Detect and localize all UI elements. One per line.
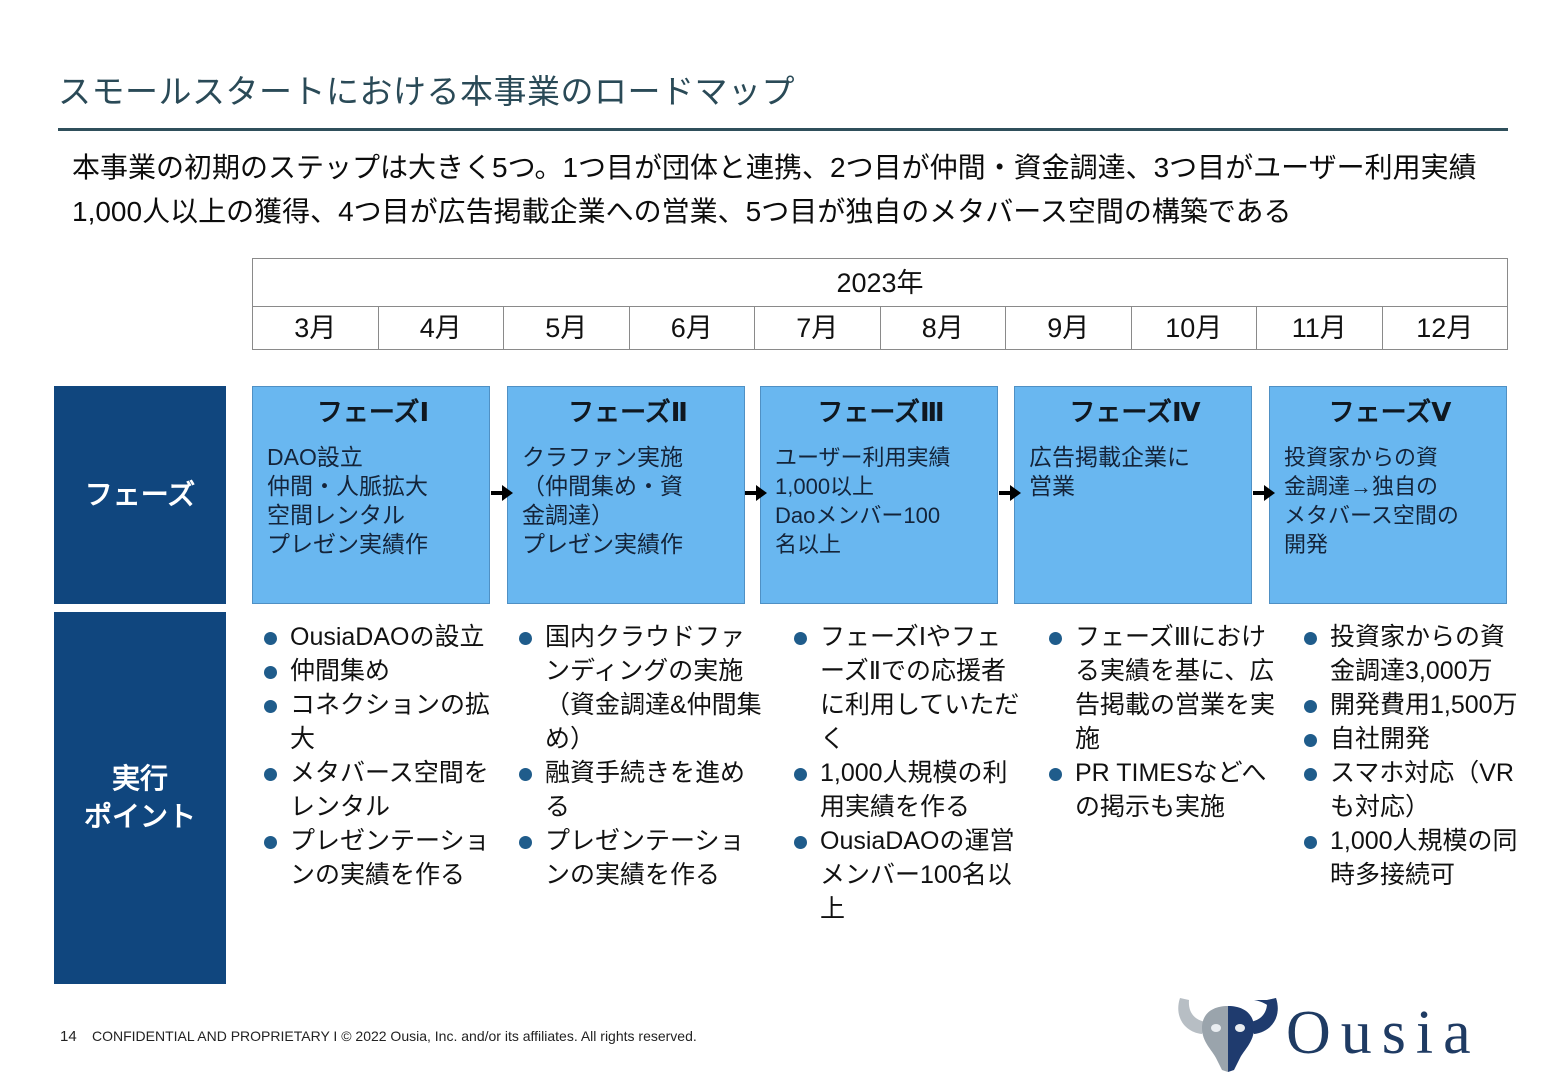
bullet-column-1: OusiaDAOの設立 仲間集め コネクションの拡大 メタバース空間をレンタル … bbox=[258, 620, 508, 892]
list-item: フェーズⅢにおける実績を基に、広告掲載の営業を実施 bbox=[1043, 620, 1275, 756]
phase-box-body: ユーザー利用実績 1,000以上 Daoメンバー100 名以上 bbox=[775, 443, 987, 559]
phase-box-body: 投資家からの資 金調達→独自の メタバース空間の 開発 bbox=[1284, 443, 1496, 559]
timeline-month-cell: 5月 bbox=[504, 307, 630, 349]
slide-root: スモールスタートにおける本事業のロードマップ 本事業の初期のステップは大きく5つ… bbox=[0, 0, 1559, 1078]
list-item: 自社開発 bbox=[1298, 722, 1526, 756]
phase-box-5: フェーズⅤ 投資家からの資 金調達→独自の メタバース空間の 開発 bbox=[1269, 386, 1507, 604]
phase-box-4: フェーズⅣ 広告掲載企業に 営業 bbox=[1014, 386, 1252, 604]
timeline-month-cell: 9月 bbox=[1006, 307, 1132, 349]
row-label-phase: フェーズ bbox=[54, 386, 226, 604]
list-item: メタバース空間をレンタル bbox=[258, 756, 508, 824]
timeline-month-cell: 4月 bbox=[379, 307, 505, 349]
list-item: OusiaDAOの運営メンバー100名以上 bbox=[788, 824, 1020, 926]
lead-paragraph: 本事業の初期のステップは大きく5つ。1つ目が団体と連携、2つ目が仲間・資金調達、… bbox=[72, 146, 1492, 234]
page-title: スモールスタートにおける本事業のロードマップ bbox=[58, 72, 795, 112]
list-item: プレゼンテーションの実績を作る bbox=[258, 824, 508, 892]
page-number: 14 bbox=[60, 1028, 77, 1045]
list-item: プレゼンテーションの実績を作る bbox=[513, 824, 763, 892]
phase-box-title: フェーズⅣ bbox=[1029, 395, 1241, 429]
list-item: フェーズⅠやフェーズⅡでの応援者に利用していただく bbox=[788, 620, 1020, 756]
bullet-column-5: 投資家からの資金調達3,000万 開発費用1,500万 自社開発 スマホ対応（V… bbox=[1298, 620, 1526, 892]
list-item: 1,000人規模の利用実績を作る bbox=[788, 756, 1020, 824]
timeline-month-cell: 10月 bbox=[1132, 307, 1258, 349]
footer-copyright: CONFIDENTIAL AND PROPRIETARY I © 2022 Ou… bbox=[92, 1028, 697, 1044]
timeline-month-cell: 12月 bbox=[1383, 307, 1508, 349]
bullet-column-3: フェーズⅠやフェーズⅡでの応援者に利用していただく 1,000人規模の利用実績を… bbox=[788, 620, 1020, 926]
bullet-column-2: 国内クラウドファンディングの実施（資金調達&仲間集め） 融資手続きを進める プレ… bbox=[513, 620, 763, 892]
timeline-year-header: 2023年 bbox=[253, 259, 1507, 307]
phase-box-body: 広告掲載企業に 営業 bbox=[1029, 443, 1241, 501]
phase-box-body: DAO設立 仲間・人脈拡大 空間レンタル プレゼン実績作 bbox=[267, 443, 479, 559]
ousia-logo: Ousia bbox=[1168, 988, 1498, 1074]
list-item: 開発費用1,500万 bbox=[1298, 688, 1526, 722]
timeline-month-cell: 3月 bbox=[253, 307, 379, 349]
list-item: 仲間集め bbox=[258, 654, 508, 688]
list-item: 国内クラウドファンディングの実施（資金調達&仲間集め） bbox=[513, 620, 763, 756]
arrow-icon-1-to-2 bbox=[491, 485, 513, 501]
timeline-month-cell: 6月 bbox=[630, 307, 756, 349]
phase-box-title: フェーズⅡ bbox=[522, 395, 734, 429]
list-item: スマホ対応（VRも対応） bbox=[1298, 756, 1526, 824]
phase-box-title: フェーズⅤ bbox=[1284, 395, 1496, 429]
timeline-month-cell: 11月 bbox=[1257, 307, 1383, 349]
phase-box-body: クラファン実施 （仲間集め・資 金調達） プレゼン実績作 bbox=[522, 443, 734, 559]
bullet-column-4: フェーズⅢにおける実績を基に、広告掲載の営業を実施 PR TIMESなどへの掲示… bbox=[1043, 620, 1275, 824]
row-label-execution-points: 実行 ポイント bbox=[54, 612, 226, 984]
list-item: コネクションの拡大 bbox=[258, 688, 508, 756]
timeline-month-row: 3月 4月 5月 6月 7月 8月 9月 10月 11月 12月 bbox=[253, 307, 1507, 349]
list-item: PR TIMESなどへの掲示も実施 bbox=[1043, 756, 1275, 824]
phase-box-2: フェーズⅡ クラファン実施 （仲間集め・資 金調達） プレゼン実績作 bbox=[507, 386, 745, 604]
phase-box-title: フェーズⅠ bbox=[267, 395, 479, 429]
logo-wordmark: Ousia bbox=[1286, 998, 1481, 1069]
list-item: 投資家からの資金調達3,000万 bbox=[1298, 620, 1526, 688]
timeline-month-cell: 8月 bbox=[881, 307, 1007, 349]
arrow-icon-4-to-5 bbox=[1253, 485, 1275, 501]
arrow-icon-3-to-4 bbox=[999, 485, 1021, 501]
bull-head-icon bbox=[1168, 988, 1288, 1074]
list-item: 融資手続きを進める bbox=[513, 756, 763, 824]
arrow-icon-2-to-3 bbox=[745, 485, 767, 501]
phase-box-title: フェーズⅢ bbox=[775, 395, 987, 429]
phase-box-3: フェーズⅢ ユーザー利用実績 1,000以上 Daoメンバー100 名以上 bbox=[760, 386, 998, 604]
timeline-month-cell: 7月 bbox=[755, 307, 881, 349]
list-item: 1,000人規模の同時多接続可 bbox=[1298, 824, 1526, 892]
timeline-table: 2023年 3月 4月 5月 6月 7月 8月 9月 10月 11月 12月 bbox=[252, 258, 1508, 350]
title-divider bbox=[58, 128, 1508, 131]
list-item: OusiaDAOの設立 bbox=[258, 620, 508, 654]
phase-box-1: フェーズⅠ DAO設立 仲間・人脈拡大 空間レンタル プレゼン実績作 bbox=[252, 386, 490, 604]
